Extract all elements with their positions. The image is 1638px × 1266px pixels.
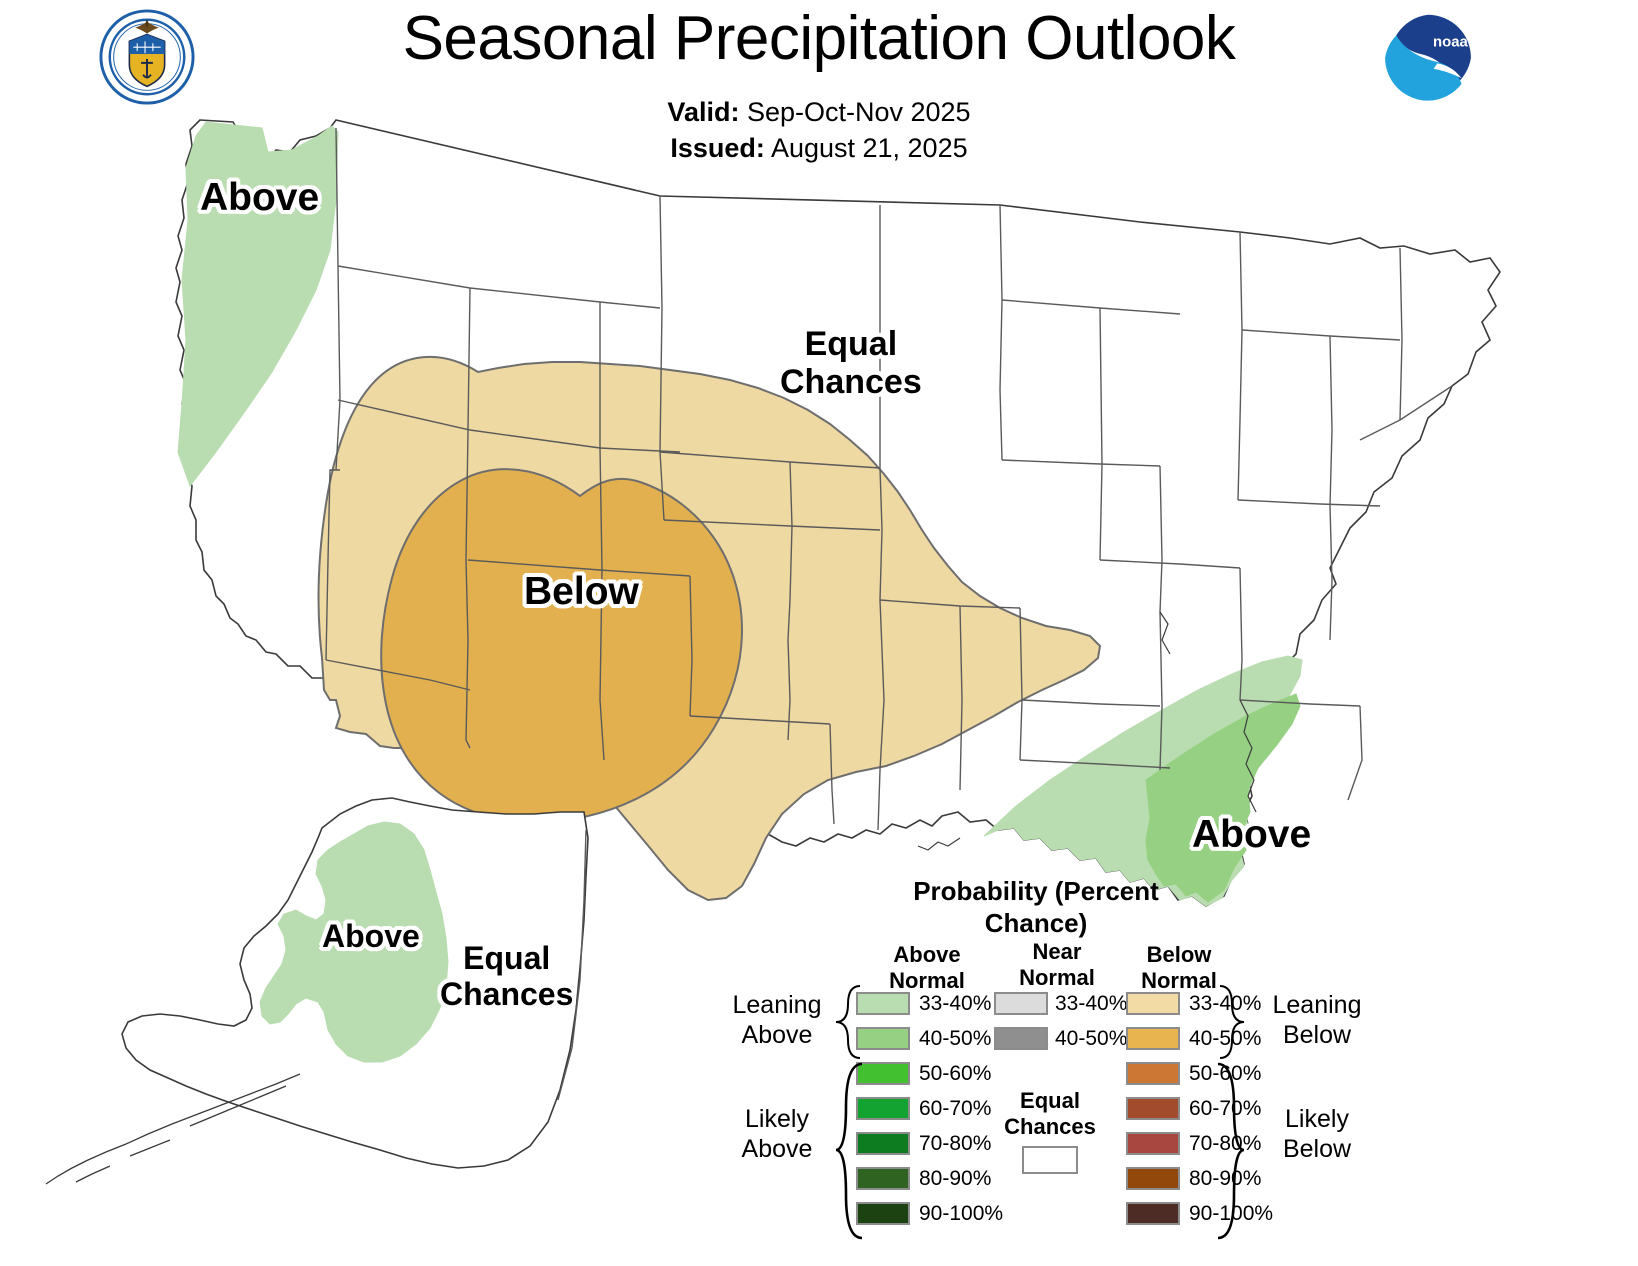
legend-below-normal-row: 60-70% xyxy=(1126,1093,1273,1124)
map-label-below-central: Below xyxy=(524,570,639,614)
map-label-above-northwest: Above xyxy=(200,176,319,220)
bracket-label-likely-below: Likely Below xyxy=(1252,1104,1382,1164)
valid-row: Valid: Sep-Oct-Nov 2025 xyxy=(0,95,1638,131)
legend-below-normal-row: 90-100% xyxy=(1126,1198,1273,1229)
bracket-label-likely-above: Likely Above xyxy=(712,1104,842,1164)
legend-above-normal-swatch xyxy=(856,1202,910,1225)
legend-above-normal-row: 80-90% xyxy=(856,1163,1003,1194)
legend-column-head-above-normal: Above Normal xyxy=(862,942,992,993)
legend-below-normal-swatch xyxy=(1126,1027,1180,1050)
legend-above-normal-range-label: 60-70% xyxy=(919,1097,991,1121)
legend-near-normal-row: 40-50% xyxy=(994,1023,1127,1054)
legend-above-normal-range-label: 40-50% xyxy=(919,1027,991,1051)
legend-above-normal-swatch xyxy=(856,1132,910,1155)
map-label-equal-chances-main: Equal Chances xyxy=(780,325,922,401)
bracket-label-leaning-above: Leaning Above xyxy=(712,990,842,1050)
legend-below-normal-row: 33-40% xyxy=(1126,988,1273,1019)
legend-below-normal-swatch xyxy=(1126,1167,1180,1190)
brace-leaning-below-icon xyxy=(1218,984,1246,1060)
legend-below-normal-swatch xyxy=(1126,1202,1180,1225)
valid-label: Valid: xyxy=(667,97,739,127)
issued-row: Issued: August 21, 2025 xyxy=(0,131,1638,167)
legend-above-normal-range-label: 33-40% xyxy=(919,992,991,1016)
legend-column-below-normal: 33-40%40-50%50-60%60-70%70-80%80-90%90-1… xyxy=(1126,988,1273,1233)
page-title: Seasonal Precipitation Outlook xyxy=(0,8,1638,70)
legend-below-normal-row: 80-90% xyxy=(1126,1163,1273,1194)
legend-above-normal-row: 33-40% xyxy=(856,988,1003,1019)
legend-above-normal-row: 70-80% xyxy=(856,1128,1003,1159)
brace-likely-above-icon xyxy=(834,1062,864,1242)
legend-below-normal-swatch xyxy=(1126,992,1180,1015)
legend-below-normal-row: 50-60% xyxy=(1126,1058,1273,1089)
map-label-above-southeast: Above xyxy=(1192,813,1311,857)
equal-chances-swatch xyxy=(1022,1146,1078,1174)
legend-near-normal-range-label: 33-40% xyxy=(1055,992,1127,1016)
legend-above-normal-range-label: 70-80% xyxy=(919,1132,991,1156)
legend-near-normal-swatch xyxy=(994,1027,1048,1050)
legend-near-normal-swatch xyxy=(994,992,1048,1015)
brace-leaning-above-icon xyxy=(834,984,862,1060)
valid-value: Sep-Oct-Nov 2025 xyxy=(747,97,971,127)
brace-likely-below-icon xyxy=(1216,1062,1246,1242)
legend-below-normal-row: 40-50% xyxy=(1126,1023,1273,1054)
legend-above-normal-range-label: 80-90% xyxy=(919,1167,991,1191)
legend-above-normal-row: 90-100% xyxy=(856,1198,1003,1229)
probability-legend: Probability (Percent Chance) Above Norma… xyxy=(706,876,1366,1246)
map-label-above-alaska: Above xyxy=(322,919,420,955)
issued-value: August 21, 2025 xyxy=(771,133,968,163)
legend-above-normal-swatch xyxy=(856,1062,910,1085)
legend-equal-chances: Equal Chances xyxy=(990,1088,1110,1174)
legend-column-head-near-normal: Near Normal xyxy=(992,939,1122,990)
legend-title: Probability (Percent Chance) xyxy=(886,876,1186,939)
legend-above-normal-range-label: 50-60% xyxy=(919,1062,991,1086)
legend-near-normal-range-label: 40-50% xyxy=(1055,1027,1127,1051)
legend-near-normal-row: 33-40% xyxy=(994,988,1127,1019)
issued-label: Issued: xyxy=(670,133,765,163)
outlook-metadata: Valid: Sep-Oct-Nov 2025 Issued: August 2… xyxy=(0,95,1638,167)
bracket-label-leaning-below: Leaning Below xyxy=(1252,990,1382,1050)
legend-above-normal-row: 50-60% xyxy=(856,1058,1003,1089)
map-label-equal-chances-alaska: Equal Chances xyxy=(440,941,573,1013)
legend-above-normal-row: 40-50% xyxy=(856,1023,1003,1054)
legend-below-normal-row: 70-80% xyxy=(1126,1128,1273,1159)
legend-column-above-normal: 33-40%40-50%50-60%60-70%70-80%80-90%90-1… xyxy=(856,988,1003,1233)
legend-above-normal-range-label: 90-100% xyxy=(919,1202,1003,1226)
legend-above-normal-swatch xyxy=(856,1027,910,1050)
legend-above-normal-swatch xyxy=(856,992,910,1015)
legend-below-normal-swatch xyxy=(1126,1132,1180,1155)
legend-above-normal-swatch xyxy=(856,1167,910,1190)
legend-above-normal-row: 60-70% xyxy=(856,1093,1003,1124)
equal-chances-label: Equal Chances xyxy=(990,1088,1110,1139)
legend-below-normal-swatch xyxy=(1126,1062,1180,1085)
legend-above-normal-swatch xyxy=(856,1097,910,1120)
legend-below-normal-swatch xyxy=(1126,1097,1180,1120)
legend-column-near-normal: 33-40%40-50% xyxy=(994,988,1127,1058)
